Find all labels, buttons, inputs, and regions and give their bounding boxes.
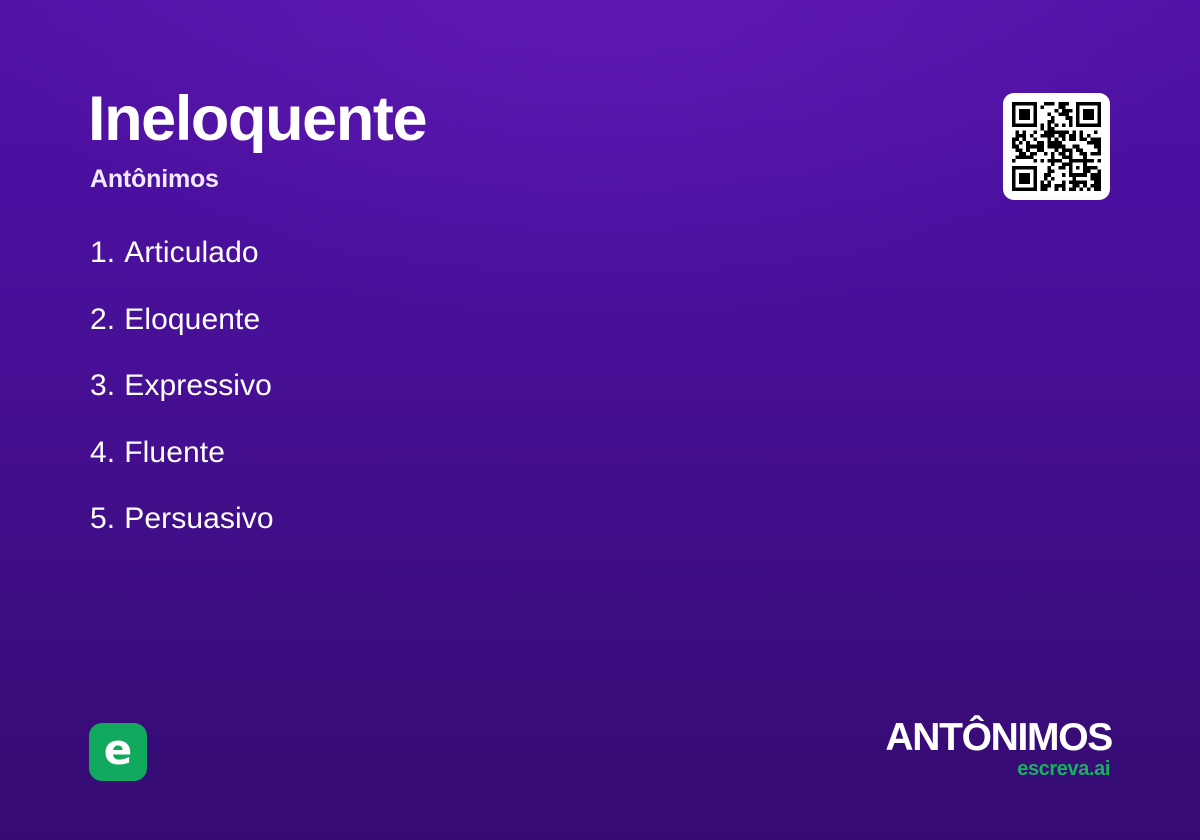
list-item: 2.Eloquente xyxy=(90,303,850,370)
qr-code-icon[interactable] xyxy=(1012,102,1101,191)
logo-main-text: ANTÔNIMOS xyxy=(812,718,1112,757)
list-item-word: Fluente xyxy=(124,436,225,470)
badge-letter: e xyxy=(104,729,133,771)
antonym-list: 1.Articulado2.Eloquente3.Expressivo4.Flu… xyxy=(90,236,850,569)
page-subtitle: Antônimos xyxy=(90,165,908,194)
list-item: 1.Articulado xyxy=(90,236,850,303)
qr-code-container[interactable] xyxy=(1003,93,1110,200)
list-item-number: 3. xyxy=(90,369,115,403)
list-item-number: 2. xyxy=(90,303,115,337)
footer-logo: ANTÔNIMOS escreva.ai xyxy=(812,718,1112,779)
antonyms-card: Ineloquente Antônimos 1.Articulado2.Eloq… xyxy=(0,0,1200,840)
list-item-number: 4. xyxy=(90,436,115,470)
list-item-word: Persuasivo xyxy=(124,502,273,536)
list-item-word: Expressivo xyxy=(124,369,272,403)
list-item: 5.Persuasivo xyxy=(90,502,850,569)
title-block: Ineloquente Antônimos xyxy=(88,88,908,194)
escreva-badge-icon[interactable]: e xyxy=(89,723,147,781)
logo-sub-text: escreva.ai xyxy=(812,759,1110,779)
list-item: 3.Expressivo xyxy=(90,369,850,436)
page-title: Ineloquente xyxy=(88,88,908,151)
list-item-word: Eloquente xyxy=(124,303,260,337)
list-item-number: 5. xyxy=(90,502,115,536)
list-item-word: Articulado xyxy=(124,236,258,270)
list-item: 4.Fluente xyxy=(90,436,850,503)
list-item-number: 1. xyxy=(90,236,115,270)
